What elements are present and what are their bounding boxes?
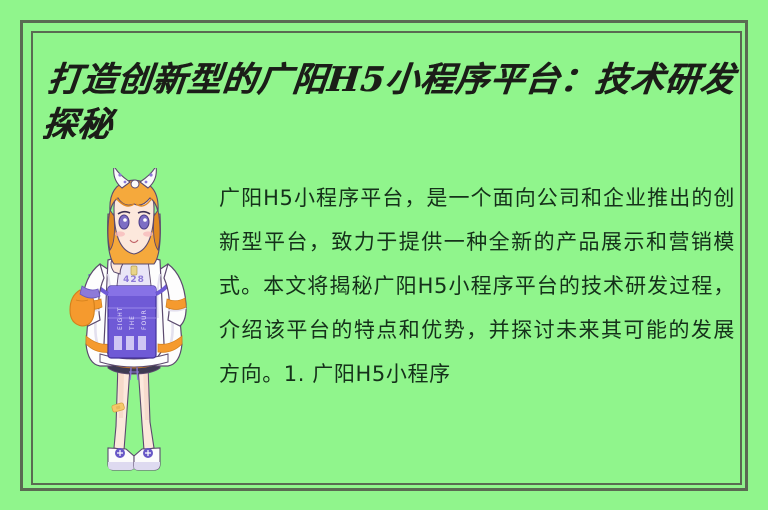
svg-text:428: 428 — [123, 275, 145, 285]
svg-text:THE: THE — [129, 315, 136, 331]
legs-group — [111, 364, 154, 450]
article-card: 打造创新型的广阳H5小程序平台：技术研发探秘 广阳H5小程序平台，是一个面向公司… — [0, 0, 768, 510]
character-illustration-svg: 428 EIGHT THE FOUR — [56, 168, 220, 478]
sneakers-group — [108, 448, 160, 470]
bag-text-label: EIGHT — [117, 307, 124, 330]
article-body-text: 广阳H5小程序平台，是一个面向公司和企业推出的创新型平台，致力于提供一种全新的产… — [219, 176, 735, 468]
head-group — [108, 168, 161, 264]
bunny-ear-bow — [114, 168, 157, 188]
svg-text:FOUR: FOUR — [141, 309, 148, 330]
character-illustration: 428 EIGHT THE FOUR — [56, 168, 220, 478]
page-title: 打造创新型的广阳H5小程序平台：技术研发探秘 — [40, 58, 739, 148]
